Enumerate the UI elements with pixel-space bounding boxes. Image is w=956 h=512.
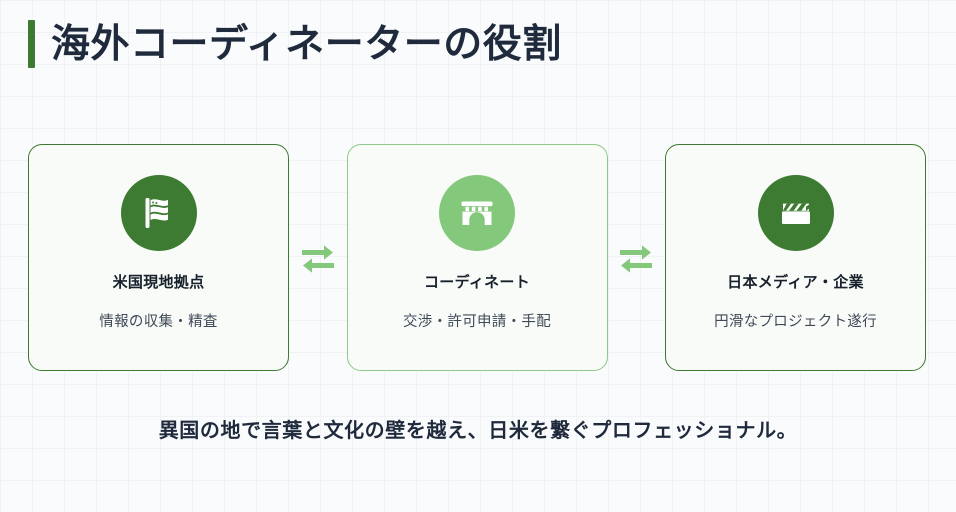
exchange-arrows-icon	[618, 242, 654, 274]
bridge-icon	[439, 175, 515, 251]
flow-card-subtitle: 交渉・許可申請・手配	[403, 310, 551, 331]
flow-card-subtitle: 円滑なプロジェクト遂行	[714, 310, 877, 331]
page-title: 海外コーディネーターの役割	[51, 25, 562, 64]
exchange-arrows-icon	[300, 242, 336, 274]
flow-card-title: 日本メディア・企業	[727, 271, 864, 292]
title-accent-bar	[28, 20, 35, 68]
summary-caption: 異国の地で言葉と文化の壁を越え、日米を繋ぐプロフェッショナル。	[0, 414, 956, 443]
flow-connector-2	[608, 144, 666, 371]
flow-connector-1	[289, 144, 347, 371]
flow-card-title: 米国現地拠点	[113, 271, 205, 292]
us-flag-icon	[121, 175, 197, 251]
flow-card-us-base[interactable]: 米国現地拠点 情報の収集・精査	[28, 144, 289, 371]
flow-card-coordinate[interactable]: コーディネート 交渉・許可申請・手配	[347, 144, 608, 371]
flow-card-subtitle: 情報の収集・精査	[99, 310, 217, 331]
flow-card-title: コーディネート	[424, 271, 530, 292]
clapperboard-icon	[758, 175, 834, 251]
page-header: 海外コーディネーターの役割	[28, 20, 562, 68]
flow-diagram: 米国現地拠点 情報の収集・精査	[28, 144, 926, 371]
flow-card-japan-media[interactable]: 日本メディア・企業 円滑なプロジェクト遂行	[665, 144, 926, 371]
